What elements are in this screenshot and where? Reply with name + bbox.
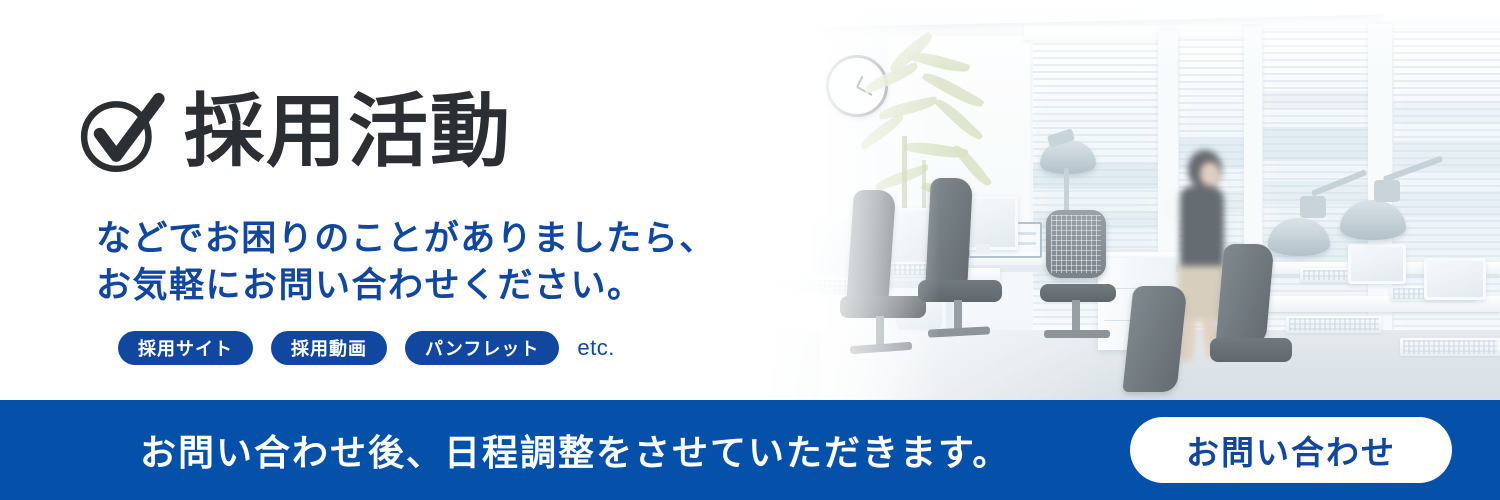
service-tag-pamphlet[interactable]: パンフレット	[405, 331, 559, 365]
headline-row: 採用活動	[74, 86, 512, 178]
service-tag-etc-label: etc.	[577, 335, 614, 361]
subtitle: などでお困りのことがありましたら、 お気軽にお問い合わせください。	[96, 216, 716, 309]
subtitle-line-1: などでお困りのことがありましたら、	[96, 216, 716, 263]
contact-button[interactable]: お問い合わせ	[1130, 417, 1452, 483]
bottom-bar-message: お問い合わせ後、日程調整をさせていただきます。	[140, 424, 1010, 476]
service-tag-recruit-video[interactable]: 採用動画	[271, 331, 387, 365]
subtitle-line-2: お気軽にお問い合わせください。	[96, 263, 716, 310]
contact-button-label: お問い合わせ	[1186, 426, 1396, 474]
service-tag-recruit-site[interactable]: 採用サイト	[118, 331, 253, 365]
photo-left-fade	[700, 0, 940, 402]
recruitment-banner: 採用活動 などでお困りのことがありましたら、 お気軽にお問い合わせください。 採…	[0, 0, 1500, 500]
office-photo	[700, 0, 1500, 402]
page-title: 採用活動	[184, 92, 512, 172]
service-tag-list: 採用サイト 採用動画 パンフレット etc.	[118, 331, 615, 365]
circled-check-icon	[74, 86, 166, 178]
